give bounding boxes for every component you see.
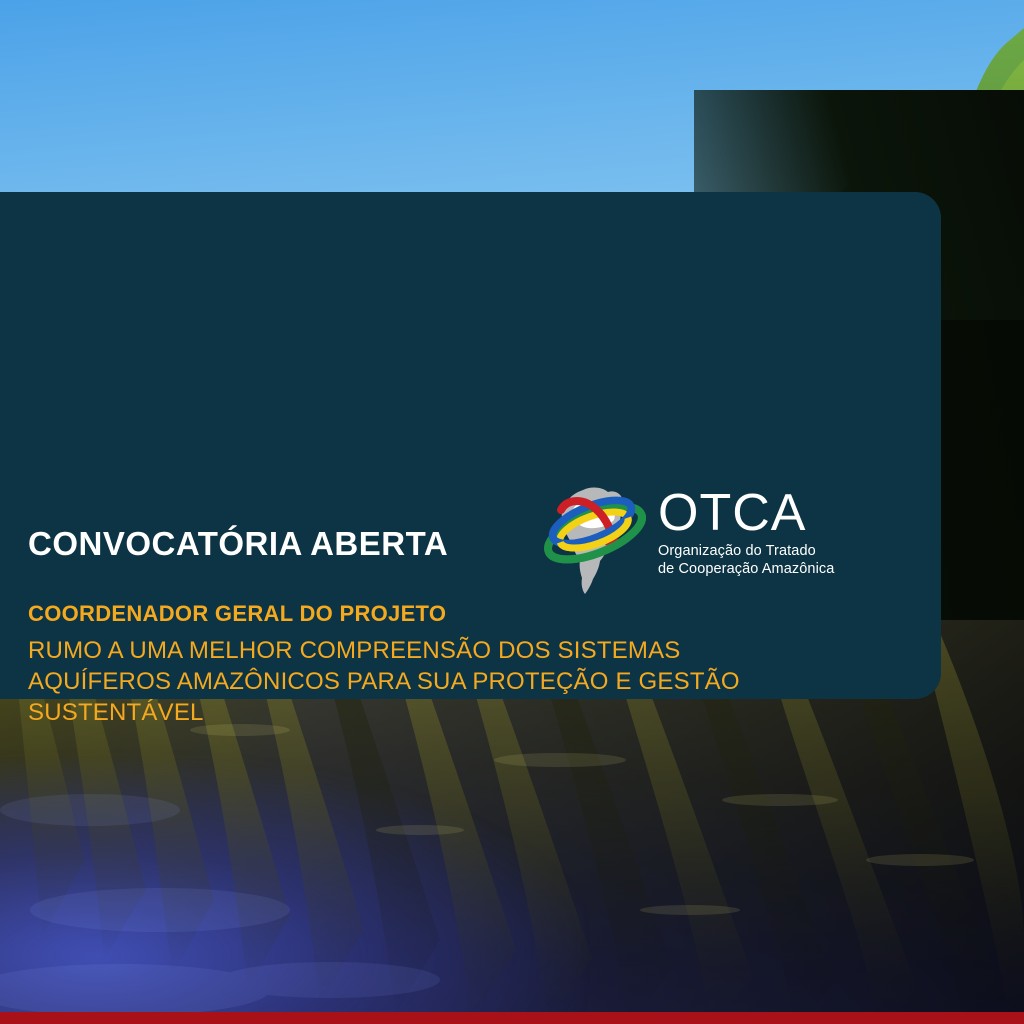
- otca-logo-text: OTCA Organização do Tratado de Cooperaçã…: [658, 486, 834, 578]
- page-title: CONVOCATÓRIA ABERTA: [28, 525, 448, 563]
- description-line-1: RUMO A UMA MELHOR COMPREENSÃO DOS SISTEM…: [28, 635, 740, 666]
- content-panel: CONVOCATÓRIA ABERTA COORDENADOR GERAL DO…: [0, 192, 941, 699]
- position-title: COORDENADOR GERAL DO PROJETO: [28, 601, 446, 627]
- project-description: RUMO A UMA MELHOR COMPREENSÃO DOS SISTEM…: [28, 635, 740, 728]
- description-line-2: AQUÍFEROS AMAZÔNICOS PARA SUA PROTEÇÃO E…: [28, 666, 740, 697]
- otca-tagline: Organização do Tratado de Cooperação Ama…: [658, 542, 834, 578]
- otca-tagline-line-2: de Cooperação Amazônica: [658, 560, 834, 578]
- bottom-accent-bar: [0, 1012, 1024, 1024]
- otca-wordmark: OTCA: [658, 486, 834, 540]
- poster-canvas: CONVOCATÓRIA ABERTA COORDENADOR GERAL DO…: [0, 0, 1024, 1024]
- otca-logo: OTCA Organização do Tratado de Cooperaçã…: [536, 478, 846, 596]
- description-line-3: SUSTENTÁVEL: [28, 697, 740, 728]
- otca-tagline-line-1: Organização do Tratado: [658, 542, 834, 560]
- otca-globe-south-america-icon: [536, 478, 654, 596]
